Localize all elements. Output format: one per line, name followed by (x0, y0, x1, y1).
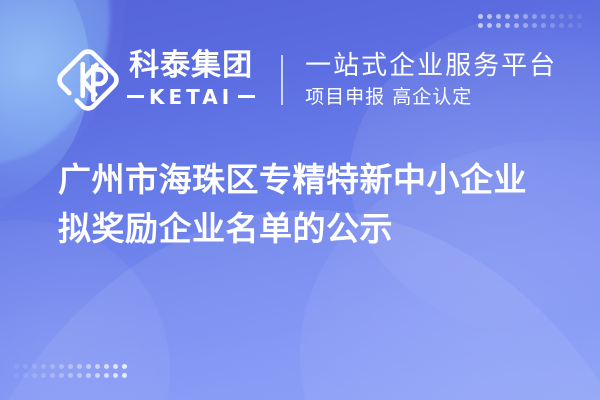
logo-company-name-en-row: KETAI (127, 85, 255, 109)
logo-company-name-en: KETAI (149, 85, 233, 109)
announcement-title: 广州市海珠区专精特新中小企业拟奖励企业名单的公示 (58, 156, 558, 254)
tagline-block: 一站式企业服务平台 项目申报 高企认定 (305, 52, 557, 108)
logo-wordmark: 科泰集团 KETAI (127, 51, 255, 109)
dot (478, 14, 483, 19)
banner-header: 科泰集团 KETAI 一站式企业服务平台 项目申报 高企认定 (55, 44, 557, 116)
tagline-primary: 一站式企业服务平台 (305, 52, 557, 81)
announcement-banner: 科泰集团 KETAI 一站式企业服务平台 项目申报 高企认定 广州市海珠区专精特… (0, 0, 600, 400)
logo-company-name-cn: 科泰集团 (129, 51, 253, 82)
ketai-kp-diamond-logo-icon (55, 47, 121, 113)
header-divider (281, 55, 283, 105)
logo-rule-right-icon (238, 95, 255, 98)
tagline-secondary: 项目申报 高企认定 (305, 87, 557, 108)
logo-rule-left-icon (127, 95, 144, 98)
